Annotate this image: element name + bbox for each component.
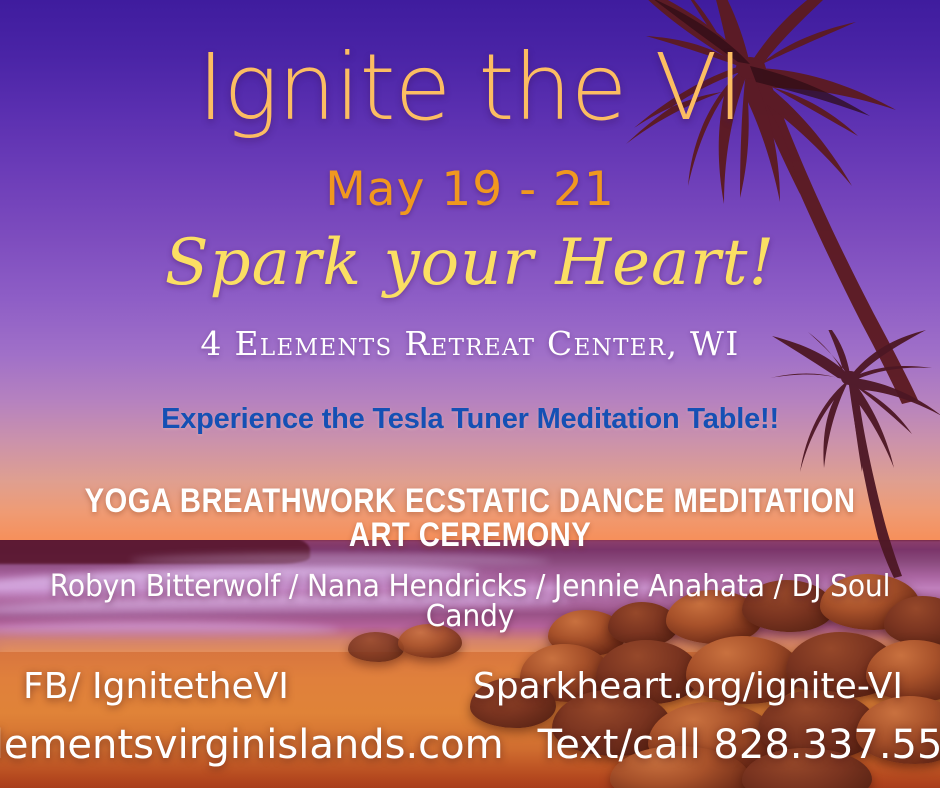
event-dates: May 19 - 21	[0, 166, 940, 213]
facebook-handle[interactable]: FB/ IgnitetheVI	[23, 666, 289, 707]
venue-location: 4 Elements Retreat Center, WI	[0, 327, 940, 360]
phone-number[interactable]: Text/call 828.337.5512	[538, 722, 940, 768]
contact-row-secondary: 4elementsvirginislands.com Text/call 828…	[0, 722, 940, 768]
event-tagline: Spark your Heart!	[0, 228, 940, 298]
contact-row-primary: FB/ IgnitetheVI Sparkheart.org/ignite-VI	[0, 666, 940, 707]
activities-list: YOGA BREATHWORK ECSTATIC DANCE MEDITATIO…	[66, 484, 874, 552]
feature-highlight: Experience the Tesla Tuner Meditation Ta…	[0, 405, 940, 434]
website-main-link[interactable]: Sparkheart.org/ignite-VI	[473, 666, 903, 707]
website-secondary-link[interactable]: 4elementsvirginislands.com	[0, 722, 504, 768]
shoreline-rock	[348, 632, 404, 662]
event-poster: Ignite the VI May 19 - 21 Spark your Hea…	[0, 0, 940, 788]
wave-foam	[130, 554, 550, 568]
page-title: Ignite the VI	[0, 42, 940, 134]
presenters-list: Robyn Bitterwolf / Nana Hendricks / Jenn…	[28, 572, 912, 632]
